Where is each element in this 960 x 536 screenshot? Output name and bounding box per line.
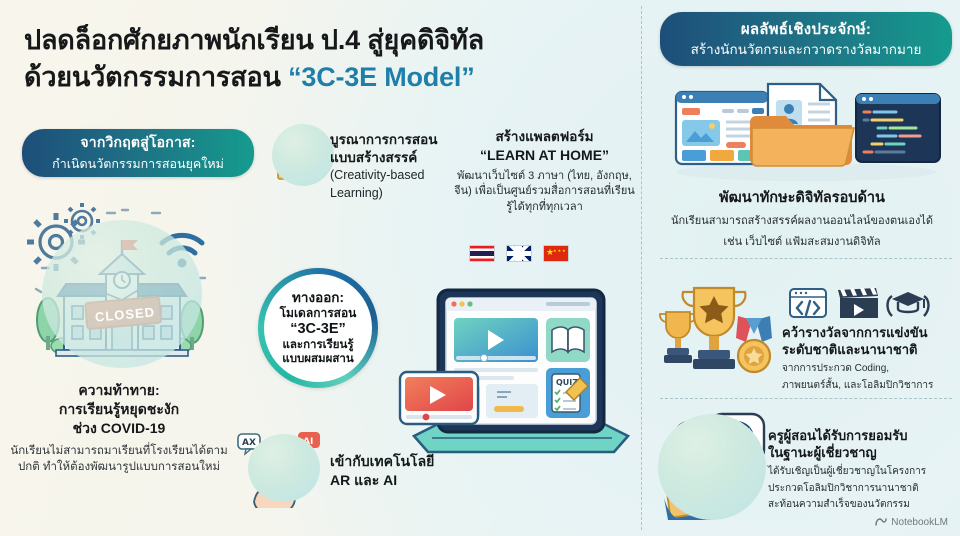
creativity-text-block: บูรณาการการสอน แบบสร้างสรรค์ (Creativity… [330, 131, 446, 201]
challenge-text-block: ความท้าทาย: การเรียนรู้หยุดชะงัก ช่วง CO… [8, 381, 230, 476]
language-flags [469, 245, 569, 262]
code-editor-window [856, 94, 940, 162]
crisis-banner: จากวิกฤตสู่โอกาส: กำเนิดนวัตกรรมการสอนยุ… [22, 129, 254, 177]
crisis-banner-line-2: กำเนิดนวัตกรรมการสอนยุคใหม่ [52, 154, 224, 174]
category-icons-svg [788, 286, 948, 320]
model-line-3: “3C-3E” [290, 321, 346, 339]
model-line-4: และการเรียนรู้ [282, 338, 353, 352]
creativity-sub-line-1: (Creativity-based [330, 167, 446, 184]
website-folder-code-svg [660, 72, 952, 182]
china-flag-icon [543, 245, 569, 262]
creativity-brain-illustration [272, 124, 334, 186]
united-kingdom-flag-icon [506, 245, 532, 262]
thailand-flag-icon [469, 245, 495, 262]
laptop-svg: QUIZ [396, 268, 646, 468]
awards-heading-line-2: ระดับชาติและนานาชาติ [782, 342, 956, 359]
code-icon [790, 289, 826, 317]
platform-text-block: สร้างแพลตฟอร์ม “LEARN AT HOME” พัฒนาเว็บ… [452, 128, 637, 216]
notebooklm-watermark: NotebookLM [875, 516, 948, 528]
ar-badge-label: AX [242, 438, 256, 448]
teacher-body-line-3: สะท้อนความสำเร็จของนวัตกรรม [768, 498, 958, 512]
trophy-medal-svg [654, 272, 779, 384]
title-line-2-prefix: ด้วยนวัตกรรมการสอน [24, 62, 288, 92]
digital-skills-text-block: พัฒนาทักษะดิจิทัลรอบด้าน นักเรียนสามารถส… [652, 186, 952, 250]
challenge-heading-line-3: ช่วง COVID-19 [8, 419, 230, 438]
model-line-1: ทางออก: [292, 290, 344, 306]
creativity-sub-line-2: Learning) [330, 185, 446, 202]
results-banner: ผลลัพธ์เชิงประจักษ์: สร้างนักนวัตกรและกว… [660, 12, 952, 66]
results-banner-line-2: สร้างนักนวัตกรและกวาดรางวัลมากมาย [691, 40, 922, 59]
watermark-label: NotebookLM [891, 517, 948, 528]
teacher-expert-illustration [654, 408, 772, 524]
platform-heading: สร้างแพลตฟอร์ม [452, 128, 637, 146]
3c-3e-model-circle: ทางออก: โมเดลการสอน “3C-3E” และการเรียนร… [258, 268, 378, 388]
ar-ai-phone-illustration: AX AI [236, 428, 328, 508]
notebooklm-logo-icon [875, 516, 887, 528]
challenge-heading-line-1: ความท้าทาย: [8, 381, 230, 400]
teacher-heading-line-2: ในฐานะผู้เชี่ยวชาญ [768, 445, 958, 462]
clapperboard-icon [838, 288, 878, 319]
horizontal-divider-1 [660, 258, 952, 259]
digital-skills-illustration [660, 72, 952, 182]
teacher-body-line-1: ได้รับเชิญเป็นผู้เชี่ยวชาญในโครงการ [768, 465, 958, 479]
laurel-graduation-icon [888, 292, 929, 316]
title-model-accent: “3C-3E Model” [288, 62, 474, 92]
ar-ai-text-block: เข้ากับเทคโนโลยี AR และ AI [330, 452, 470, 490]
creativity-heading-line-1: บูรณาการการสอน [330, 131, 446, 149]
digital-skills-body-line-1: นักเรียนสามารถสร้างสรรค์ผลงานออนไลน์ของต… [652, 213, 952, 230]
teacher-heading-line-1: ครูผู้สอนได้รับการยอมรับ [768, 428, 958, 445]
results-banner-line-1: ผลลัพธ์เชิงประจักษ์: [741, 19, 871, 40]
model-line-5: แบบผสมผสาน [282, 352, 353, 366]
awards-trophy-illustration [654, 272, 779, 384]
infographic-canvas: ปลดล็อกศักยภาพนักเรียน ป.4 สู่ยุคดิจิทัล… [0, 0, 960, 536]
awards-body-line-1: จากการประกวด Coding, [782, 362, 956, 376]
awards-heading-line-1: คว้ารางวัลจากการแข่งขัน [782, 325, 956, 342]
crisis-banner-line-1: จากวิกฤตสู่โอกาส: [80, 132, 195, 154]
horizontal-divider-2 [660, 398, 952, 399]
awards-text-block: คว้ารางวัลจากการแข่งขัน ระดับชาติและนานา… [782, 325, 956, 392]
teacher-body-line-2: ประกวดโอลิมปิกวิชาการนานาชาติ [768, 482, 958, 496]
title-line-2: ด้วยนวัตกรรมการสอน “3C-3E Model” [24, 59, 624, 96]
platform-heading-en: “LEARN AT HOME” [452, 146, 637, 166]
award-category-icons [788, 286, 948, 320]
school-closed-illustration: CLOSED [12, 196, 228, 378]
challenge-body: นักเรียนไม่สามารถมาเรียนที่โรงเรียนได้ตา… [8, 443, 230, 476]
trophy-large-icon [683, 288, 746, 369]
page-title: ปลดล็อกศักยภาพนักเรียน ป.4 สู่ยุคดิจิทัล… [24, 22, 624, 97]
model-line-2: โมเดลการสอน [280, 306, 357, 321]
creativity-heading-line-2: แบบสร้างสรรค์ [330, 149, 446, 167]
digital-skills-body-line-2: เช่น เว็บไซต์ แฟ้มสะสมงานดิจิทัล [652, 234, 952, 251]
title-line-1: ปลดล็อกศักยภาพนักเรียน ป.4 สู่ยุคดิจิทัล [24, 25, 484, 55]
challenge-heading-line-2: การเรียนรู้หยุดชะงัก [8, 400, 230, 419]
ar-ai-heading-line-2: AR และ AI [330, 471, 470, 490]
digital-skills-heading: พัฒนาทักษะดิจิทัลรอบด้าน [652, 186, 952, 209]
illustration-blob [42, 220, 202, 368]
teacher-expert-text-block: ครูผู้สอนได้รับการยอมรับ ในฐานะผู้เชี่ยว… [768, 428, 958, 512]
learn-at-home-laptop-illustration: QUIZ [396, 268, 646, 468]
platform-body: พัฒนาเว็บไซต์ 3 ภาษา (ไทย, อังกฤษ, จีน) … [452, 169, 637, 216]
ar-ai-heading-line-1: เข้ากับเทคโนโลยี [330, 452, 470, 471]
medal-icon [736, 316, 772, 372]
awards-body-line-2: ภาพยนตร์สั้น, และโอลิมปิกวิชาการ [782, 379, 956, 393]
trophy-small-icon [660, 312, 696, 363]
